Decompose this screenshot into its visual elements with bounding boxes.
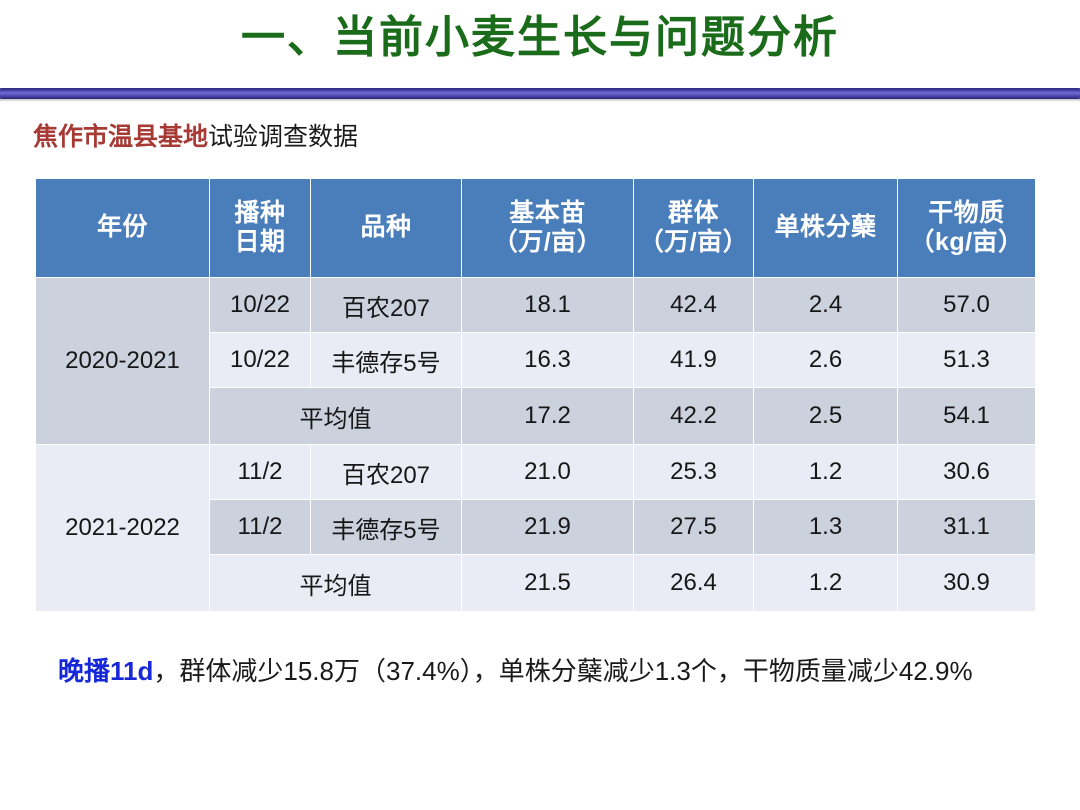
cell-sowing-date: 11/2 bbox=[210, 445, 310, 499]
column-header-basic-seedlings: 基本苗 （万/亩） bbox=[462, 179, 633, 277]
cell-tillers: 1.2 bbox=[754, 445, 897, 499]
title-divider bbox=[0, 88, 1080, 102]
cell-dry-matter: 31.1 bbox=[898, 500, 1035, 554]
cell-sowing-date: 10/22 bbox=[210, 278, 310, 332]
cell-tillers: 2.4 bbox=[754, 278, 897, 332]
summary-note-highlight: 晚播11d bbox=[58, 656, 153, 686]
subtitle-rest: 试验调查数据 bbox=[208, 123, 358, 151]
subtitle-highlight: 焦作市温县基地 bbox=[33, 123, 208, 151]
average-basic-seedlings: 21.5 bbox=[462, 555, 633, 611]
cell-tillers: 2.6 bbox=[754, 333, 897, 387]
cell-sowing-date: 11/2 bbox=[210, 500, 310, 554]
table-row: 2021-2022 11/2 百农207 21.0 25.3 1.2 30.6 bbox=[36, 445, 1035, 499]
summary-note: 晚播11d，群体减少15.8万（37.4%），单株分蘖减少1.3个，干物质量减少… bbox=[58, 648, 1043, 694]
average-dry-matter: 54.1 bbox=[898, 388, 1035, 444]
column-header-year: 年份 bbox=[36, 179, 209, 277]
header-line2: （万/亩） bbox=[462, 228, 633, 258]
cell-basic-seedlings: 21.9 bbox=[462, 500, 633, 554]
cell-variety: 百农207 bbox=[311, 278, 461, 332]
divider-shadow bbox=[0, 99, 1080, 102]
section-subtitle: 焦作市温县基地试验调查数据 bbox=[33, 122, 358, 152]
average-population: 26.4 bbox=[634, 555, 753, 611]
cell-variety: 百农207 bbox=[311, 445, 461, 499]
survey-data-table: 年份 播种 日期 品种 基本苗 （万/亩） 群体 （万/亩） 单株分蘖 干物质 bbox=[35, 178, 1036, 612]
cell-population: 42.4 bbox=[634, 278, 753, 332]
header-line1: 干物质 bbox=[898, 199, 1035, 229]
cell-basic-seedlings: 21.0 bbox=[462, 445, 633, 499]
cell-population: 27.5 bbox=[634, 500, 753, 554]
cell-variety: 丰德存5号 bbox=[311, 333, 461, 387]
column-header-tillers: 单株分蘖 bbox=[754, 179, 897, 277]
summary-note-rest: ，群体减少15.8万（37.4%），单株分蘖减少1.3个，干物质量减少42.9% bbox=[153, 656, 972, 686]
column-header-dry-matter: 干物质 （kg/亩） bbox=[898, 179, 1035, 277]
column-header-population: 群体 （万/亩） bbox=[634, 179, 753, 277]
average-tillers: 1.2 bbox=[754, 555, 897, 611]
cell-sowing-date: 10/22 bbox=[210, 333, 310, 387]
page-title: 一、当前小麦生长与问题分析 bbox=[0, 0, 1080, 67]
cell-basic-seedlings: 16.3 bbox=[462, 333, 633, 387]
average-population: 42.2 bbox=[634, 388, 753, 444]
average-basic-seedlings: 17.2 bbox=[462, 388, 633, 444]
header-line1: 基本苗 bbox=[462, 199, 633, 229]
average-tillers: 2.5 bbox=[754, 388, 897, 444]
year-group-label: 2021-2022 bbox=[36, 445, 209, 611]
column-header-sowing-date: 播种 日期 bbox=[210, 179, 310, 277]
header-line1: 年份 bbox=[36, 213, 209, 243]
average-label: 平均值 bbox=[210, 555, 461, 611]
cell-variety: 丰德存5号 bbox=[311, 500, 461, 554]
header-line2: （万/亩） bbox=[634, 228, 753, 258]
table-row: 2020-2021 10/22 百农207 18.1 42.4 2.4 57.0 bbox=[36, 278, 1035, 332]
divider-bar bbox=[0, 88, 1080, 99]
cell-basic-seedlings: 18.1 bbox=[462, 278, 633, 332]
cell-dry-matter: 30.6 bbox=[898, 445, 1035, 499]
header-line1: 播种 bbox=[210, 199, 310, 229]
year-group-label: 2020-2021 bbox=[36, 278, 209, 444]
average-label: 平均值 bbox=[210, 388, 461, 444]
header-line2: （kg/亩） bbox=[898, 228, 1035, 258]
cell-dry-matter: 57.0 bbox=[898, 278, 1035, 332]
cell-tillers: 1.3 bbox=[754, 500, 897, 554]
average-dry-matter: 30.9 bbox=[898, 555, 1035, 611]
cell-dry-matter: 51.3 bbox=[898, 333, 1035, 387]
header-line1: 单株分蘖 bbox=[754, 213, 897, 243]
cell-population: 41.9 bbox=[634, 333, 753, 387]
header-line1: 品种 bbox=[311, 213, 461, 243]
header-line2: 日期 bbox=[210, 228, 310, 258]
header-line1: 群体 bbox=[634, 199, 753, 229]
column-header-variety: 品种 bbox=[311, 179, 461, 277]
table-header-row: 年份 播种 日期 品种 基本苗 （万/亩） 群体 （万/亩） 单株分蘖 干物质 bbox=[36, 179, 1035, 277]
cell-population: 25.3 bbox=[634, 445, 753, 499]
